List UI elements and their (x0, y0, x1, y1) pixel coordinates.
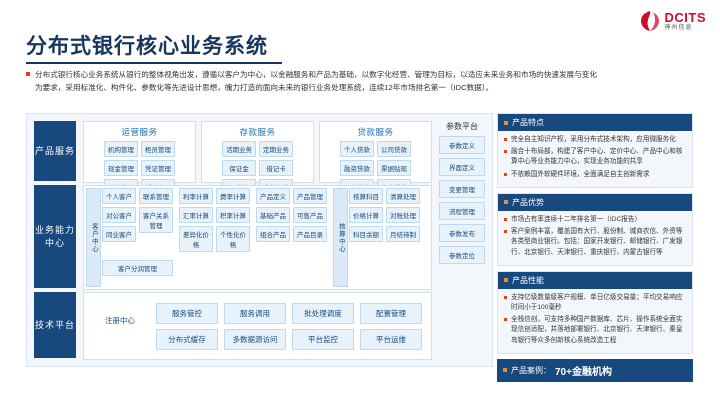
tech-button[interactable]: 平台监控 (292, 329, 354, 350)
chip-item[interactable]: 活期业务 (222, 141, 256, 157)
brand-logo: DCITS 神州信息 (639, 10, 707, 32)
chip-item[interactable]: 借记卡 (259, 160, 293, 176)
case-value: 70+金融机构 (555, 363, 612, 378)
chip-item[interactable]: 凭证管理 (141, 160, 175, 176)
service-group-loan: 贷款服务 个人贷款 公司贷款 融资贷款 票据贴现 网上放款 联合授信 (319, 121, 432, 183)
accounting-col-1: 核算科目 价格计算 科目余额 (349, 188, 383, 245)
chip-item[interactable]: 个性化价格 (216, 226, 250, 252)
layer-label-capability-center: 业务能力中心 (34, 185, 76, 288)
chip-item[interactable]: 保证金 (222, 160, 256, 176)
bullet-icon (504, 230, 507, 233)
panel-product-advantages: 产品优势 市场占有率连续十二年排名第一（IDC报告） 客户案例丰富，覆盖国有大行… (497, 193, 693, 266)
panel-product-performance: 产品性能 支持亿级数量级客户规模、单日亿级交易量；平均交易响应时间小于100毫秒… (497, 271, 693, 354)
price-col-2: 费率计算 积率计算 个性化价格 (216, 188, 250, 255)
panel-header: 产品特点 (498, 114, 692, 131)
chip-item[interactable]: 客户关系管理 (139, 207, 173, 233)
tech-button[interactable]: 多数据源访问 (224, 329, 286, 350)
panel-header: 产品性能 (498, 272, 692, 289)
tech-button[interactable]: 分布式缓存 (156, 329, 218, 350)
panel-item: 融合十布局部，构建了客户中心、定价中心、产品中心和核算中心等业务能力中心，实现业… (511, 147, 686, 167)
chip-item[interactable]: 科目余额 (349, 226, 383, 242)
chip-item[interactable]: 差异化价格 (179, 226, 213, 252)
title-underline (26, 62, 282, 64)
panel-item: 完全自主知识产权，采用分布式技术架构，应用微服务化 (511, 135, 676, 145)
chip-item[interactable]: 利率计算 (179, 188, 213, 204)
intro-paragraph: 分布式银行核心业务系统从银行的整体视角出发，遵循以客户为中心，以金融服务和产品为… (26, 68, 690, 95)
accounting-center-strip: 核算中心 (333, 188, 348, 287)
chip-item[interactable]: 汇率计算 (179, 207, 213, 223)
panel-title: 产品性能 (512, 275, 544, 286)
panel-item: 不依赖国外软硬件环境，全面满足自主创新需求 (511, 170, 649, 180)
chip-item[interactable]: 票据贴现 (377, 160, 411, 176)
chip-item[interactable]: 同业客户 (102, 226, 136, 242)
chip-item[interactable]: 产品定义 (256, 188, 290, 204)
brand-name: DCITS (665, 11, 707, 24)
panel-body: 完全自主知识产权，采用分布式技术架构，应用微服务化 融合十布局部，构建了客户中心… (498, 131, 692, 187)
chip-item[interactable]: 积率计算 (216, 207, 250, 223)
panel-item: 支持亿级数量级客户规模、单日亿级交易量；平均交易响应时间小于100毫秒 (511, 293, 686, 313)
chip-item[interactable]: 产品目录 (293, 226, 327, 242)
chip-item[interactable]: 个人贷款 (340, 141, 374, 157)
brand-sub: 神州信息 (665, 25, 707, 31)
chip-item[interactable]: 机构管理 (104, 141, 138, 157)
square-bullet-icon (504, 121, 508, 125)
registry-center-label: 注册中心 (92, 315, 148, 326)
intro-line-2: 为要求，采用标准化、构件化、参数化等先进设计思想，魄力打造的面向未来的银行业务处… (35, 81, 493, 94)
platform-button[interactable]: 参数定义 (439, 136, 485, 154)
panel-title: 产品特点 (512, 117, 544, 128)
panel-item: 客户案例丰富，覆盖国有大行、股份制、城商农信、外资等各类型商业银行。包括：国家开… (511, 227, 686, 258)
chip-item[interactable]: 对账处理 (386, 207, 420, 223)
dcits-logo-icon (639, 10, 661, 32)
chip-item[interactable]: 产品管理 (293, 188, 327, 204)
strip-label: 核算中心 (337, 223, 345, 253)
chip-item[interactable]: 费率计算 (216, 188, 250, 204)
product-col-2: 产品管理 可售产品 产品目录 (293, 188, 327, 245)
chip-item[interactable]: 对公客户 (102, 207, 136, 223)
chip-item[interactable]: 融资贷款 (340, 160, 374, 176)
case-label: 产品案例： (511, 365, 551, 376)
chip-item[interactable]: 可售产品 (293, 207, 327, 223)
tech-button[interactable]: 平台运维 (360, 329, 422, 350)
panel-body: 市场占有率连续十二年排名第一（IDC报告） 客户案例丰富，覆盖国有大行、股份制、… (498, 211, 692, 265)
bullet-icon (504, 138, 507, 141)
panel-item: 全栈信创，可支持多种国产数据库、芯片、操作系统全面实现信创适配，并落地部署银行、… (511, 315, 686, 346)
slide-root: DCITS 神州信息 分布式银行核心业务系统 分布式银行核心业务系统从银行的整体… (0, 0, 720, 405)
panel-body: 支持亿级数量级客户规模、单日亿级交易量；平均交易响应时间小于100毫秒 全栈信创… (498, 289, 692, 353)
panel-item: 市场占有率连续十二年排名第一（IDC报告） (511, 215, 641, 225)
group-title: 存款服务 (202, 126, 313, 138)
chip-item[interactable]: 基础产品 (256, 207, 290, 223)
platform-button[interactable]: 界面定义 (439, 158, 485, 176)
platform-button[interactable]: 变更管理 (439, 180, 485, 198)
chip-item[interactable]: 客户分润管理 (102, 260, 173, 276)
panel-title: 产品优势 (512, 197, 544, 208)
group-title: 贷款服务 (320, 126, 431, 138)
platform-button[interactable]: 参数定位 (439, 246, 485, 264)
service-group-operations: 运营服务 机构管理 柜员管理 现金管理 凭证管理 风险管理 辅助交易 (83, 121, 196, 183)
chip-item[interactable]: 个人客户 (102, 188, 136, 204)
page-title: 分布式银行核心业务系统 (26, 30, 268, 60)
bullet-square-icon (26, 72, 30, 76)
product-col-1: 产品定义 基础产品 组合产品 (256, 188, 290, 245)
architecture-diagram: 产品服务 业务能力中心 技术平台 运营服务 机构管理 柜员管理 现金管理 凭证管… (26, 113, 493, 367)
chip-item[interactable]: 组合产品 (256, 226, 290, 242)
bullet-icon (504, 173, 507, 176)
bullet-icon (504, 218, 507, 221)
chip-item[interactable]: 柜员管理 (141, 141, 175, 157)
tech-button[interactable]: 批处理调度 (292, 303, 354, 324)
product-case-banner: 产品案例： 70+金融机构 (497, 359, 693, 382)
tech-button[interactable]: 服务管控 (156, 303, 218, 324)
chip-item[interactable]: 核算科目 (349, 188, 383, 204)
accounting-col-2: 清算处理 对账处理 月结待制 (386, 188, 420, 245)
tech-platform-box: 注册中心 服务管控 服务调用 批处理调度 配置管理 分布式缓存 多数据源访问 平… (83, 292, 432, 360)
strip-label: 客户中心 (90, 223, 98, 253)
platform-button[interactable]: 流程管理 (439, 202, 485, 220)
parameter-platform: 参数平台 参数定义 界面定义 变更管理 流程管理 参数发布 参数定位 (439, 121, 485, 268)
bullet-icon (504, 318, 507, 321)
tech-button[interactable]: 配置管理 (360, 303, 422, 324)
chip-item[interactable]: 定期业务 (259, 141, 293, 157)
group-title: 运营服务 (84, 126, 195, 138)
chip-item[interactable]: 月结待制 (386, 226, 420, 242)
service-group-deposit: 存款服务 活期业务 定期业务 保证金 借记卡 现金池 大额存款 账户限制 司法查… (201, 121, 314, 183)
platform-title: 参数平台 (439, 121, 485, 132)
customer-col-3: 客户分润管理 (102, 260, 173, 279)
customer-col-1: 个人客户 对公客户 同业客户 (102, 188, 136, 245)
customer-center-strip: 客户中心 (86, 188, 101, 287)
square-bullet-icon (504, 200, 508, 204)
price-col-1: 利率计算 汇率计算 差异化价格 (179, 188, 213, 255)
chip-item[interactable]: 清算处理 (386, 188, 420, 204)
right-panel-column: 产品特点 完全自主知识产权，采用分布式技术架构，应用微服务化 融合十布局部，构建… (497, 113, 693, 382)
tech-button[interactable]: 服务调用 (224, 303, 286, 324)
tech-button-grid: 服务管控 服务调用 批处理调度 配置管理 分布式缓存 多数据源访问 平台监控 平… (156, 303, 422, 350)
square-bullet-icon (504, 278, 508, 282)
panel-header: 产品优势 (498, 194, 692, 211)
intro-line-1: 分布式银行核心业务系统从银行的整体视角出发，遵循以客户为中心，以金融服务和产品为… (35, 68, 597, 81)
chip-item[interactable]: 价格计算 (349, 207, 383, 223)
customer-col-2: 联系管理 客户关系管理 (139, 188, 173, 236)
chip-item[interactable]: 现金管理 (104, 160, 138, 176)
bullet-icon (504, 296, 507, 299)
square-bullet-icon (503, 368, 507, 372)
brand-text: DCITS 神州信息 (665, 11, 707, 31)
layer-label-tech-platform: 技术平台 (34, 292, 76, 358)
chip-item[interactable]: 公司贷款 (377, 141, 411, 157)
layer-label-product-service: 产品服务 (34, 121, 76, 181)
bullet-icon (504, 150, 507, 153)
panel-product-features: 产品特点 完全自主知识产权，采用分布式技术架构，应用微服务化 融合十布局部，构建… (497, 113, 693, 188)
chip-item[interactable]: 联系管理 (139, 188, 173, 204)
platform-button[interactable]: 参数发布 (439, 224, 485, 242)
